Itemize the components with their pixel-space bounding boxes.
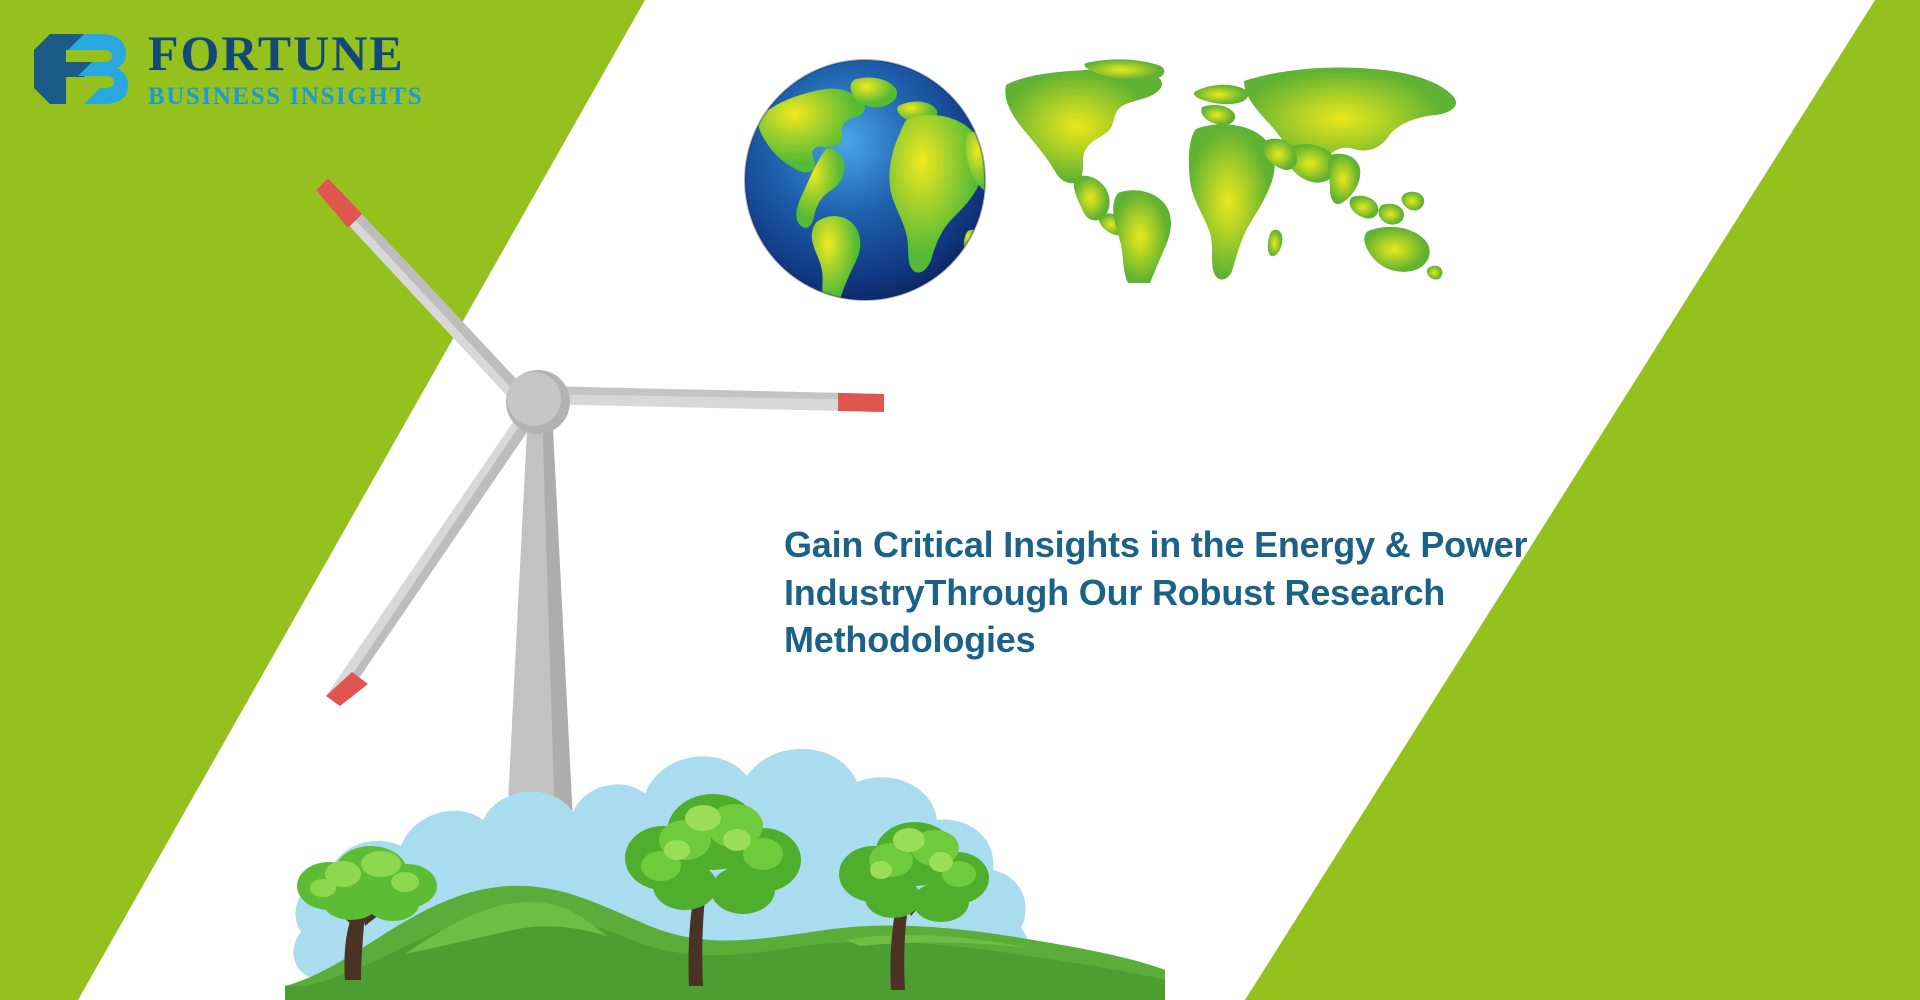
brand-logo[interactable]: FORTUNE BUSINESS INSIGHTS (28, 28, 423, 109)
logo-subtitle: BUSINESS INSIGHTS (148, 84, 423, 109)
world-map-graphic (1000, 55, 1490, 285)
world-map-icon (1000, 55, 1490, 285)
marketing-banner: FORTUNE BUSINESS INSIGHTS (0, 0, 1920, 1000)
headline-title: Gain Critical Insights in the Energy & P… (784, 521, 1544, 664)
hill-landscape-icon (285, 690, 1165, 1000)
fb-monogram-icon (28, 30, 132, 108)
hill-landscape-graphic (285, 690, 1165, 1000)
logo-wordmark: FORTUNE BUSINESS INSIGHTS (148, 28, 423, 109)
logo-title: FORTUNE (148, 28, 423, 78)
